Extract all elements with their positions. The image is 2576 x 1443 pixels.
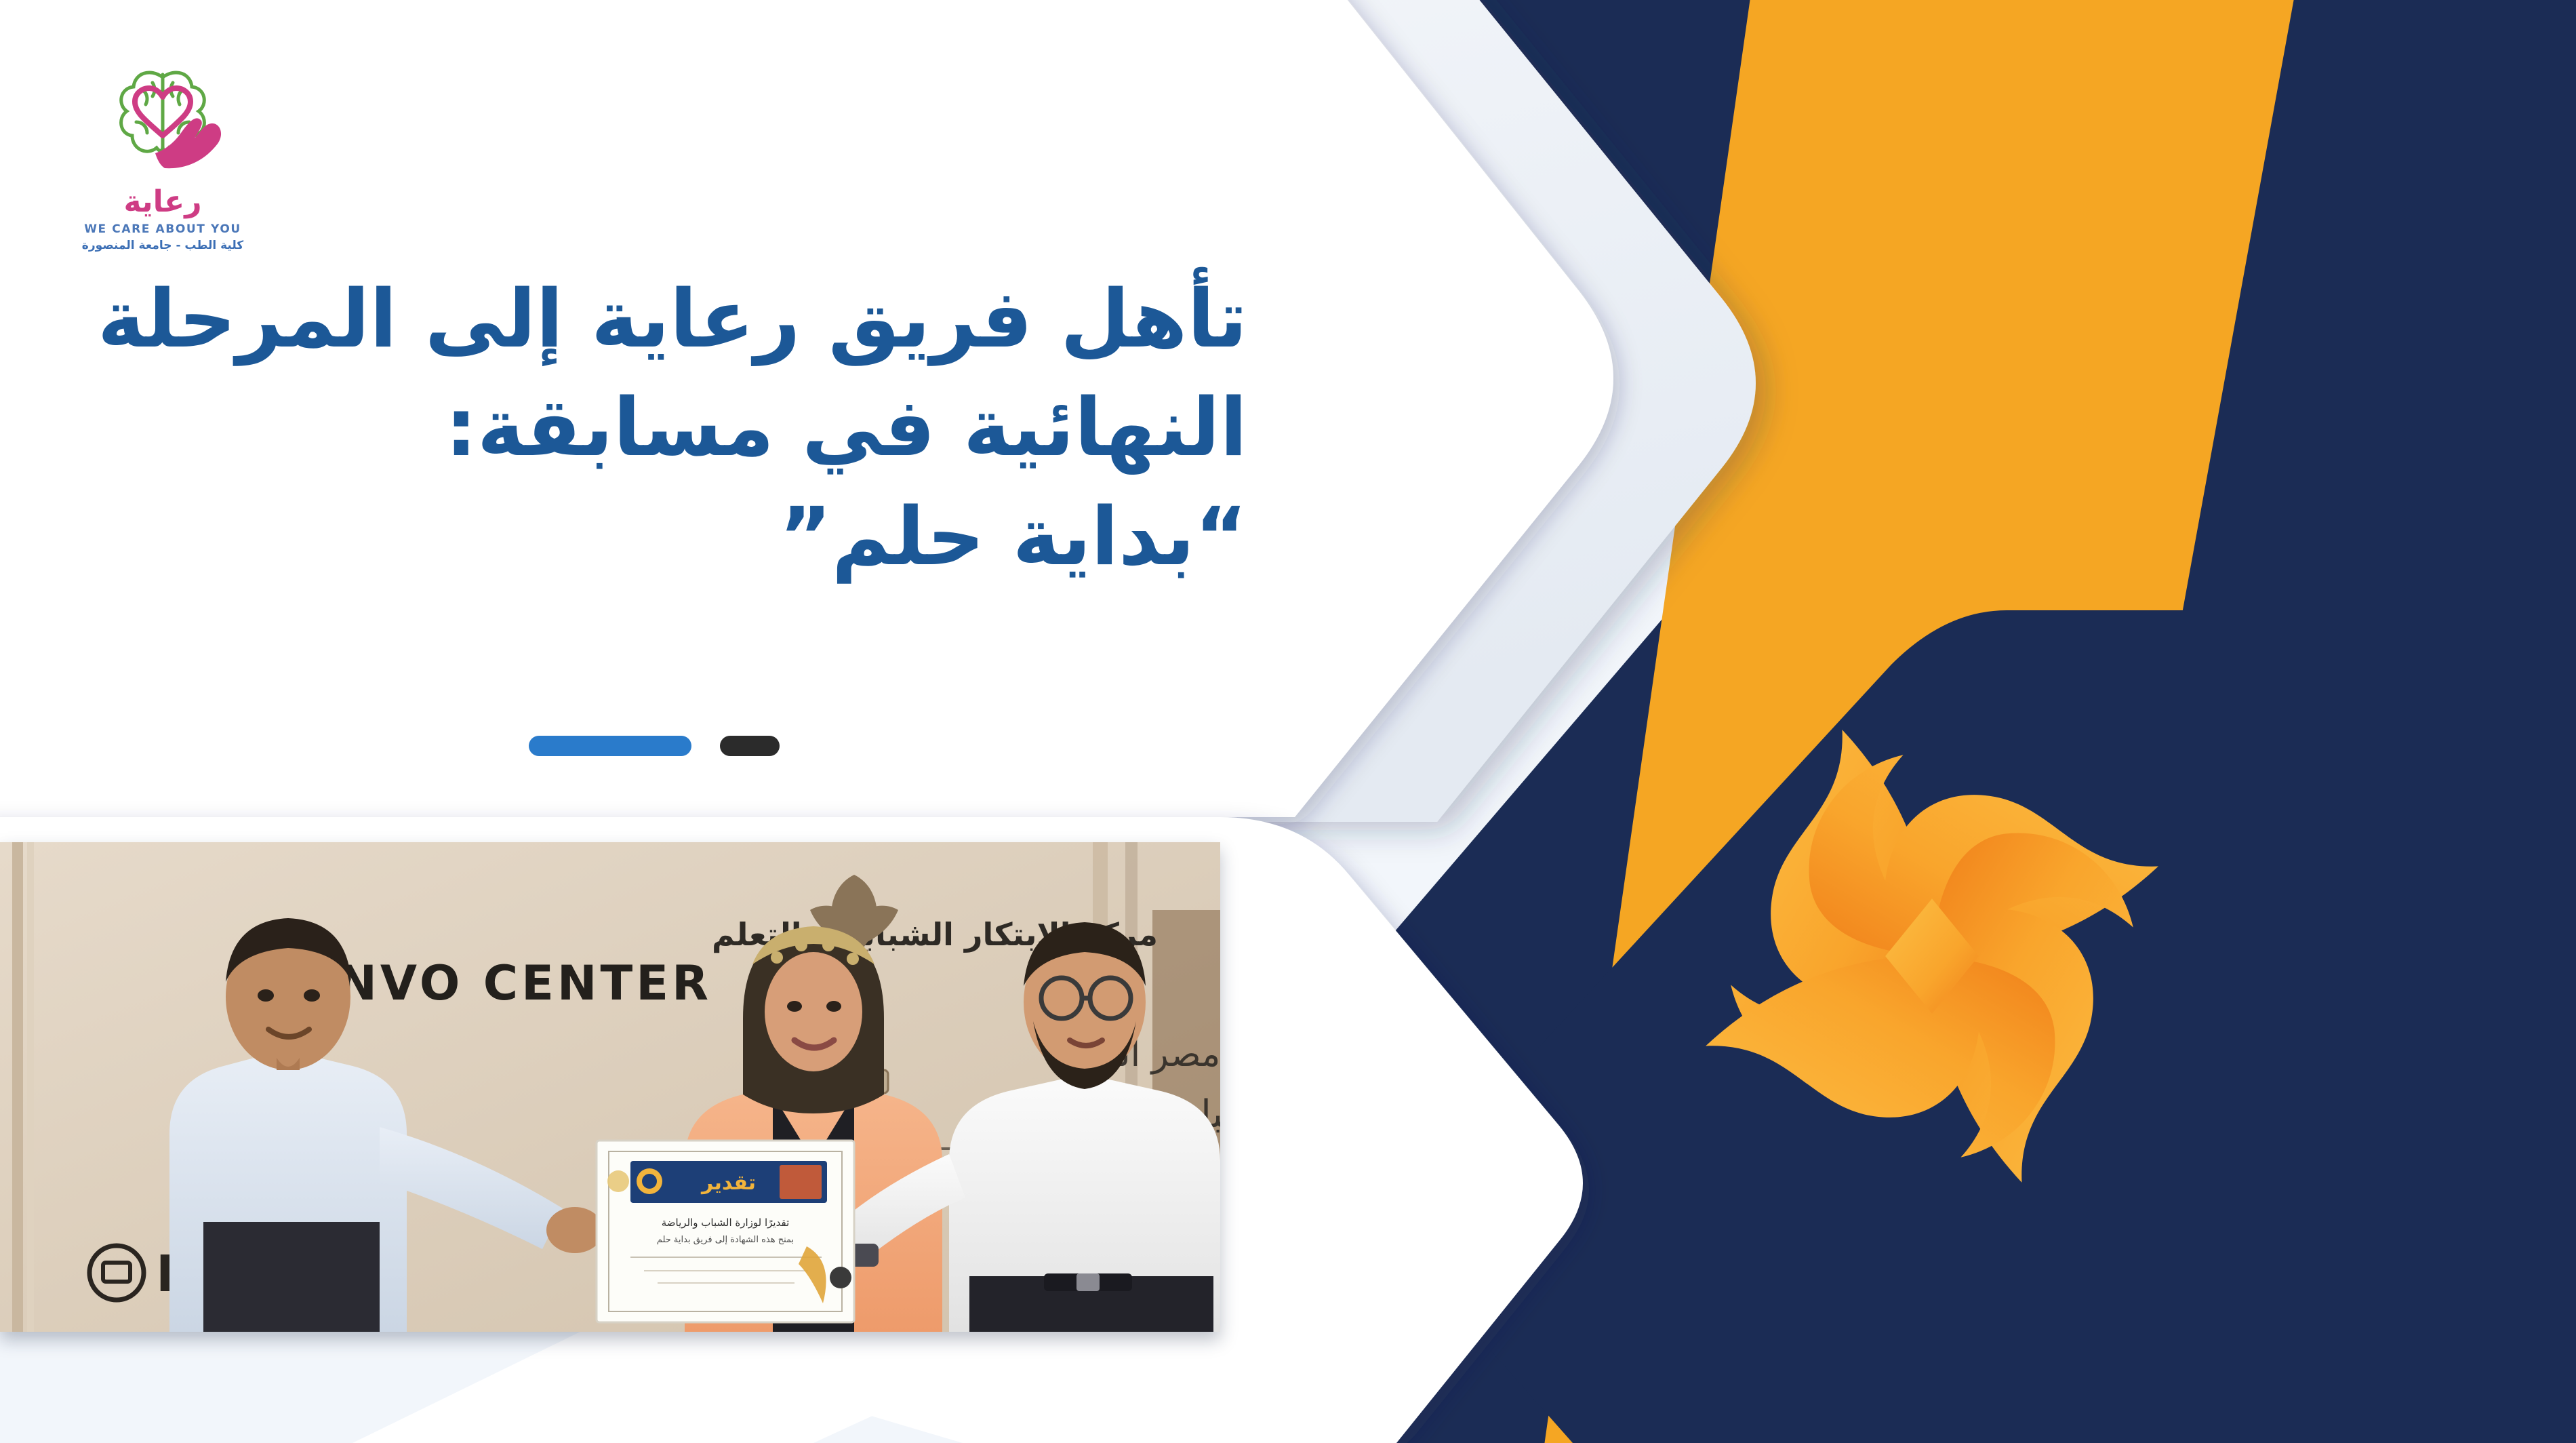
brain-heart-in-hand-crescent-logo-icon: [85, 47, 241, 183]
certificate-line1: تقديرًا لوزارة الشباب والرياضة: [662, 1217, 790, 1229]
raaya-logo: رعاية WE CARE ABOUT YOU كلية الطب - جامع…: [68, 47, 258, 252]
orange-pinwheel-flame-emblem: [1573, 597, 2291, 1316]
logo-subtitle: كلية الطب - جامعة المنصورة: [68, 239, 258, 252]
divider-pill-short: [720, 736, 780, 756]
page-title: تأهل فريق رعاية إلى المرحلة النهائية في …: [0, 264, 1247, 591]
photo-wall-latin: INVO CENTER: [316, 955, 712, 1011]
divider-pill-long: [529, 736, 691, 756]
logo-wordmark: رعاية: [68, 187, 258, 217]
logo-tagline: WE CARE ABOUT YOU: [68, 222, 258, 236]
photo-content: مركز الابتكار الشبابي والتعلم INVO CENTE…: [0, 842, 1220, 1332]
certificate-line2: بمنح هذه الشهادة إلى فريق بداية حلم: [657, 1235, 794, 1245]
divider-row: [529, 736, 780, 756]
photo-certificate: تقدير تقديرًا لوزارة الشباب والرياضة بمن…: [597, 1141, 854, 1322]
photo-artifact-dot: [830, 1267, 851, 1288]
award-ceremony-photo: مركز الابتكار الشبابي والتعلم INVO CENTE…: [0, 842, 1220, 1332]
certificate-title: تقدير: [700, 1171, 756, 1195]
poster-canvas: مركز الابتكار الشبابي والتعلم INVO CENTE…: [0, 0, 2576, 1443]
headline-block: تأهل فريق رعاية إلى المرحلة النهائية في …: [0, 264, 1274, 591]
